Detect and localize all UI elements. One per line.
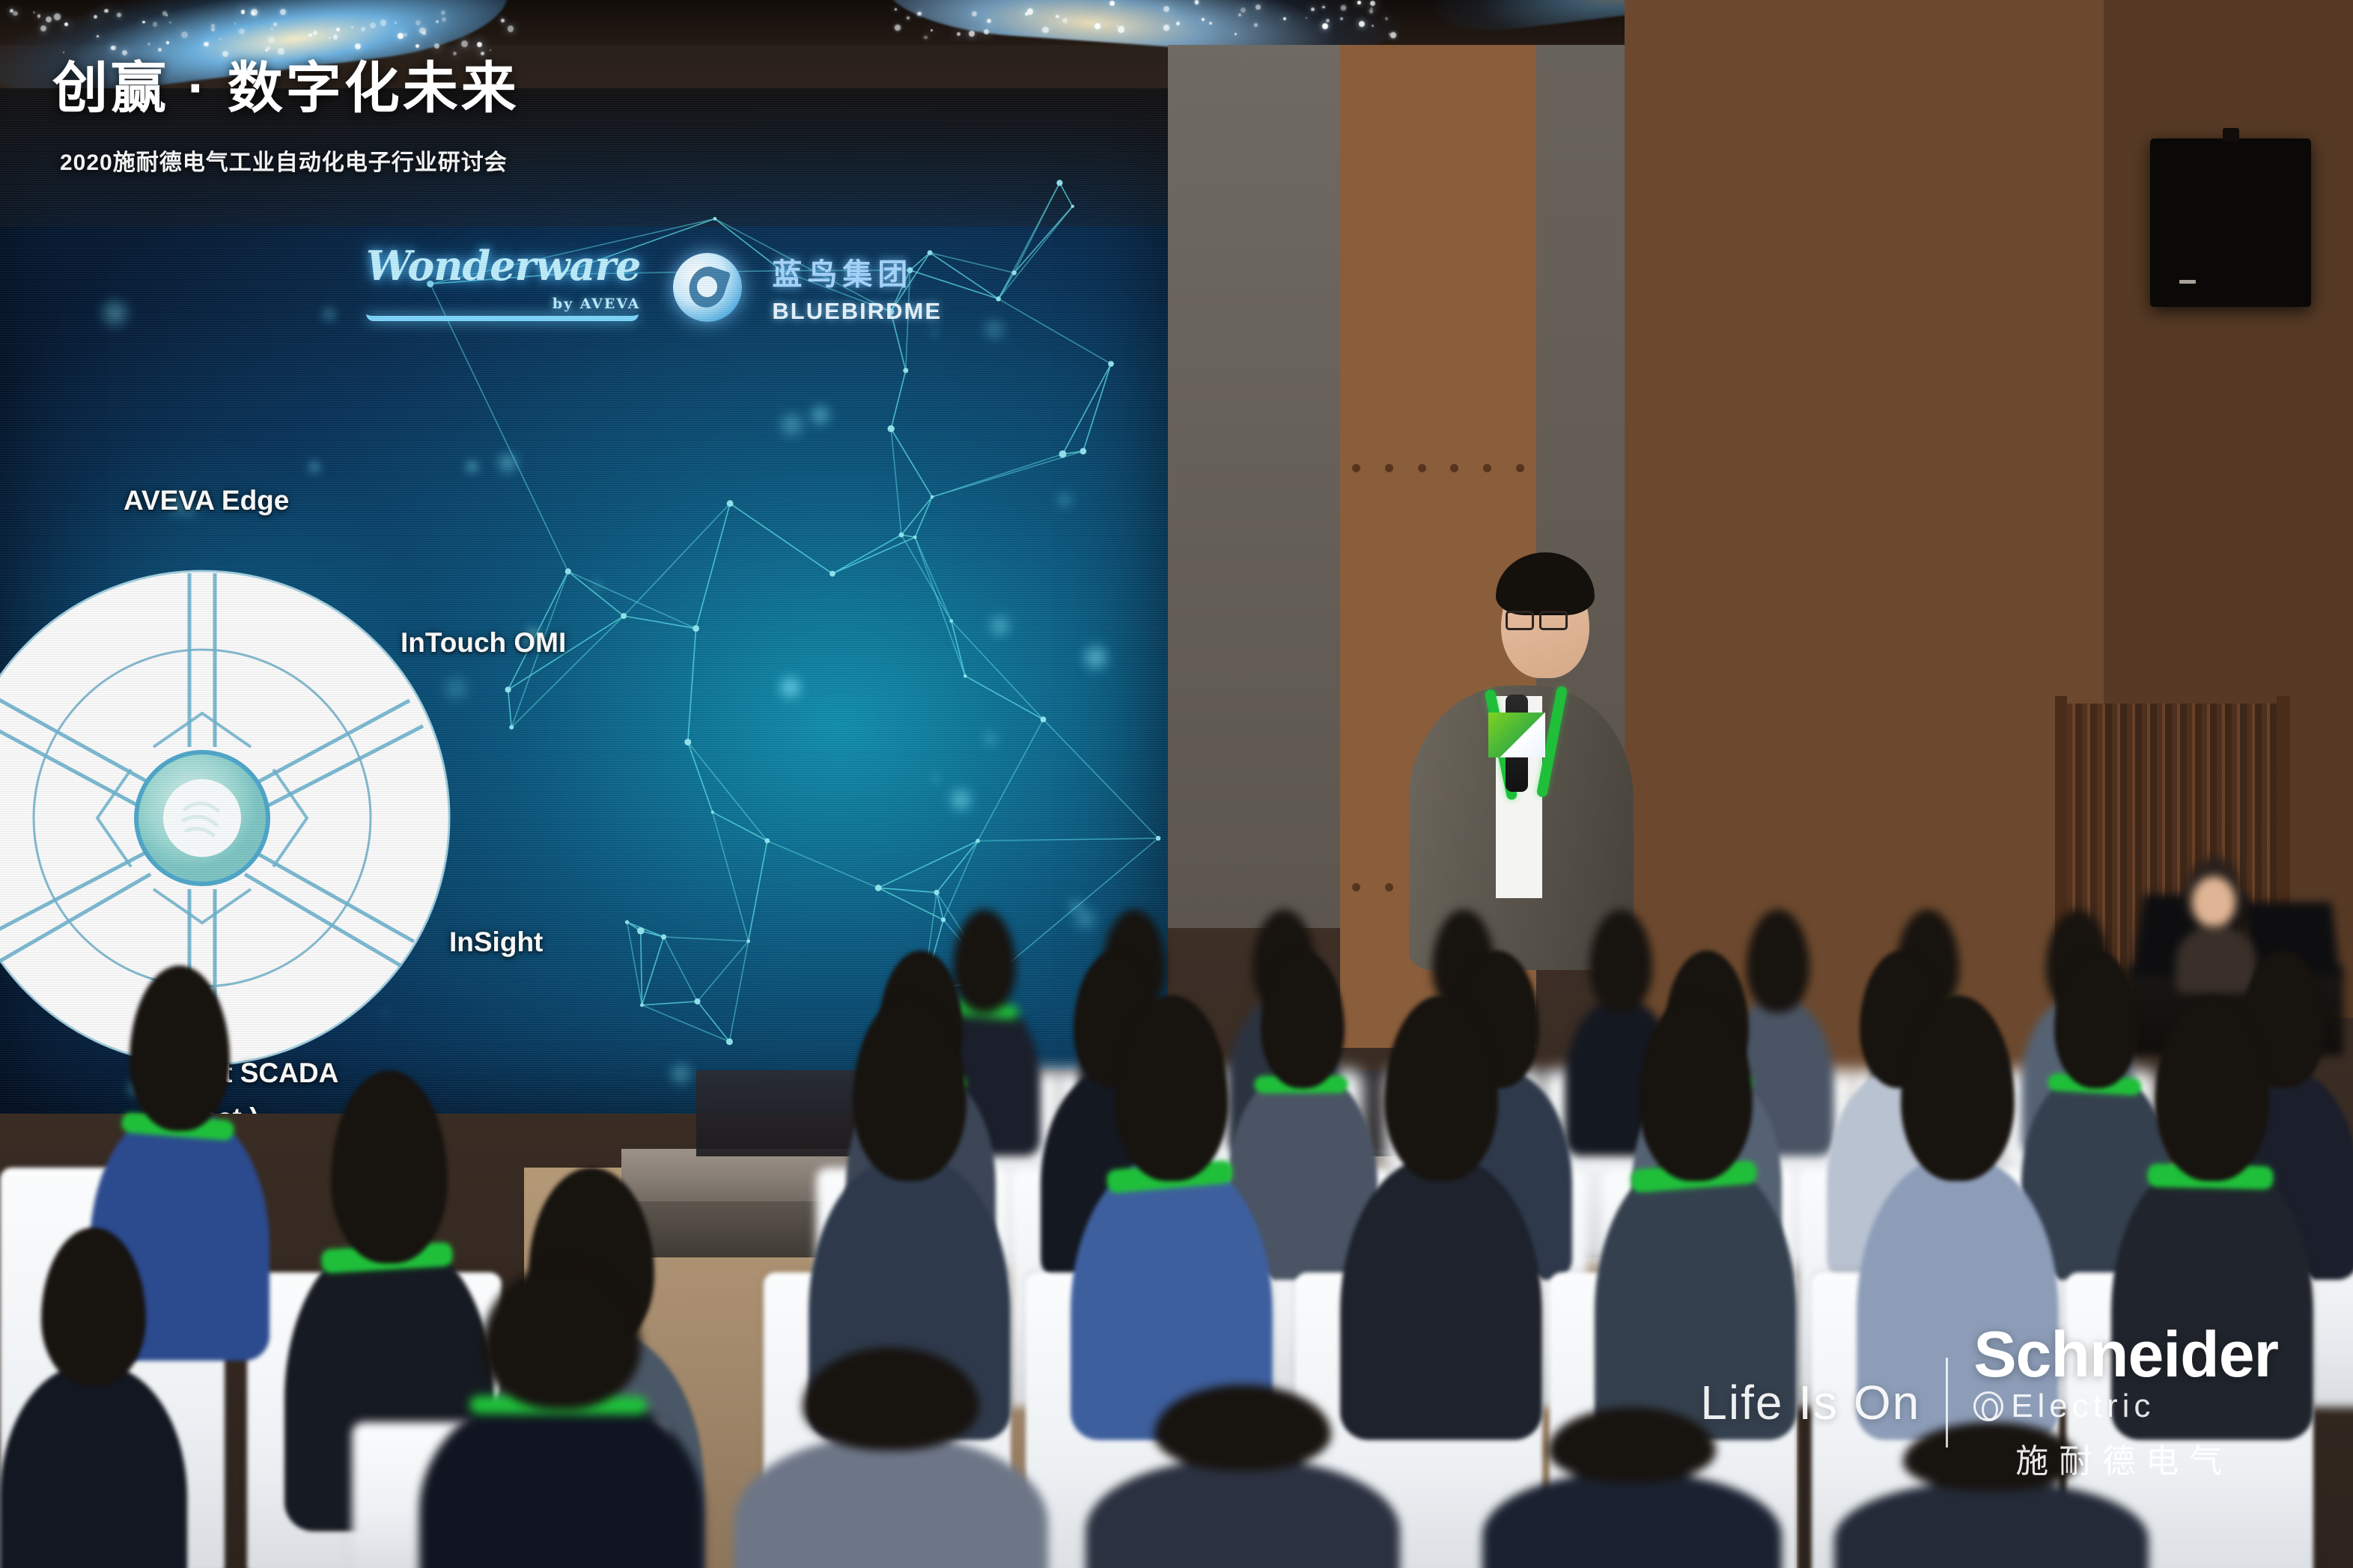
audience-body [419, 1391, 704, 1568]
audience-head [331, 1070, 448, 1263]
schneider-electric-icon [1973, 1391, 2003, 1421]
audience-head [1115, 995, 1228, 1181]
schneider-wordmark: Schneider [1973, 1323, 2278, 1386]
audience-head [853, 995, 966, 1181]
audience-head [482, 1265, 642, 1409]
audience-member [809, 995, 1011, 1400]
audience-body [1086, 1459, 1400, 1568]
audience-member [1071, 995, 1273, 1400]
audience-member [734, 1347, 1048, 1568]
fabric-wall-panel [1168, 45, 1340, 928]
schneider-electric-line: Electric [1973, 1388, 2278, 1425]
wonderware-swoosh-icon [366, 314, 639, 321]
label-intouch-omi: InTouch OMI [401, 627, 566, 659]
audience-body [1482, 1473, 1782, 1568]
life-is-on-text: Life Is On [1700, 1375, 1920, 1430]
audience-head [130, 965, 230, 1131]
audience-head [2155, 995, 2268, 1181]
label-insight: InSight [449, 927, 543, 958]
audience-head [1384, 995, 1497, 1181]
bluebird-swirl-icon [673, 253, 742, 322]
watermark-divider [1946, 1358, 1948, 1447]
audience-body [1834, 1482, 2149, 1568]
audience-head [1548, 1407, 1716, 1483]
presenter-hair [1496, 552, 1595, 615]
audience-head [1901, 995, 2014, 1181]
speaker-led [2179, 280, 2196, 284]
page-subtitle: 2020施耐德电气工业自动化电子行业研讨会 [60, 144, 508, 177]
audience-head [41, 1227, 146, 1386]
audience-body [734, 1437, 1048, 1568]
audience-head [1639, 995, 1752, 1181]
schneider-logo: Schneider Electric 施耐德电气 [1973, 1323, 2278, 1482]
bluebird-logo: 蓝鸟集团 BLUEBIRDME [772, 250, 942, 325]
presenter [1400, 539, 1640, 958]
page-title: 创赢 · 数字化未来 [52, 43, 520, 123]
speaker-mount [2223, 128, 2239, 141]
conference-photo: Wonderware by AVEVA 蓝鸟集团 BLUEBIRDME [0, 0, 2353, 1568]
life-is-on-tagline: Life Is On [1700, 1375, 1920, 1430]
schneider-chinese-name: 施耐德电气 [2015, 1434, 2278, 1482]
bluebird-chinese-name: 蓝鸟集团 [772, 250, 942, 293]
wall-speaker-icon [2150, 138, 2311, 307]
audience-head [1154, 1385, 1330, 1471]
label-aveva-edge: AVEVA Edge [124, 485, 289, 516]
bluebird-english-name: BLUEBIRDME [772, 298, 942, 325]
audience-member [1340, 995, 1542, 1400]
microphone-flag [1488, 713, 1545, 757]
wonderware-byline: by AVEVA [366, 296, 640, 312]
audience-body [0, 1365, 187, 1568]
audience-head [1261, 951, 1345, 1088]
operator-face [2192, 876, 2235, 927]
audience-member [1086, 1385, 1400, 1568]
wonderware-wordmark: Wonderware [366, 242, 640, 290]
audience-head [803, 1347, 978, 1450]
wonderware-logo: Wonderware by AVEVA [363, 242, 643, 333]
audience-member [0, 1227, 187, 1568]
presenter-glasses [1506, 611, 1534, 630]
audience-member [419, 1265, 704, 1568]
schneider-watermark: Life Is On Schneider Electric 施耐德电气 [1700, 1323, 2278, 1482]
presenter-glasses [1539, 611, 1568, 630]
schneider-electric-text: Electric [2011, 1388, 2155, 1425]
